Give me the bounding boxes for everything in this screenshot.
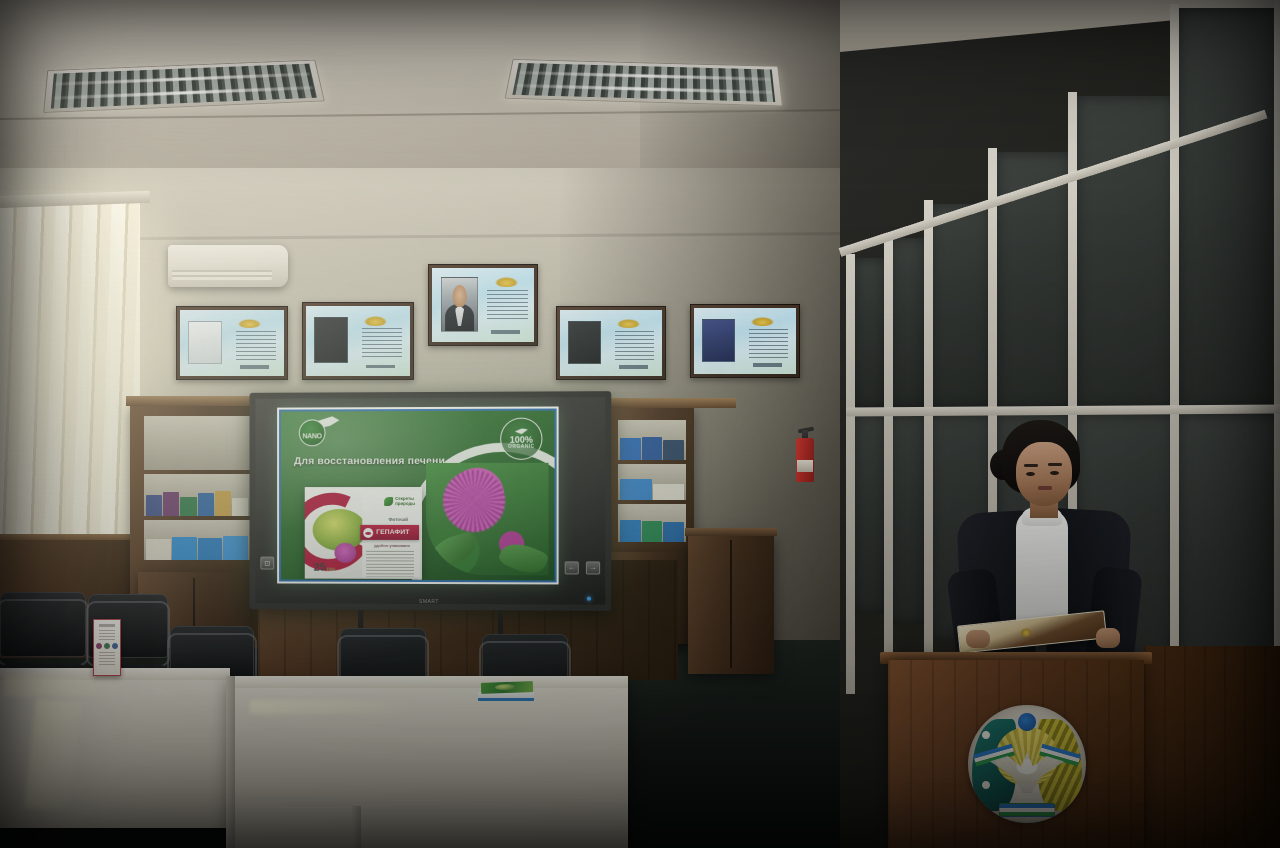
glass-pane [890,414,926,624]
certificate-thumbnail [568,321,601,365]
folder-row [620,518,684,542]
table-tent-card [93,619,121,676]
certificate-text-lines [749,329,788,358]
book [215,491,231,516]
window-mullion [884,234,893,654]
pack-count-number: 25 [314,562,326,574]
certificate-art [694,308,796,374]
table-edge [228,676,628,688]
book-stack [478,683,534,701]
storage-cabinet[interactable] [688,534,774,674]
certificate-signature [753,363,782,366]
certificate-thumbnail [188,321,221,365]
bookshelf-compartment-top [144,416,250,470]
certificate-text-lines [236,331,276,360]
conference-table-left [0,668,230,828]
certificate-frame-2 [302,302,414,380]
folder [172,537,197,560]
folder-row [146,535,248,560]
room-photo: NANO 100% ORGANIC Для восстановления печ… [0,0,1280,848]
eye [1026,472,1035,476]
folder [223,536,248,560]
ac-vent [172,270,272,280]
book [146,495,162,516]
portrait-head [452,285,467,307]
table-leg [226,676,235,848]
tent-card-text [99,630,115,640]
brand-mark: Секреты природы [384,497,415,507]
certificate-signature [619,365,648,368]
hand-left [966,630,990,648]
eyebrow [1048,463,1062,466]
cotton-boll [982,781,990,789]
slide-title: Для восстановления печени [294,455,445,467]
book [663,440,684,460]
certificate-text-lines [615,331,654,360]
conference-table-right [228,676,628,848]
certificate-art [180,310,284,376]
presentation-slide: NANO 100% ORGANIC Для восстановления печ… [279,408,557,582]
speaker-person [930,420,1150,670]
glass-pane [854,258,886,408]
bookcase-cornice [126,396,262,406]
glass-pane [854,414,886,614]
certificate-thumbnail [702,319,735,363]
bookshelf-compartment-mid [144,474,250,516]
bookcase-cornice [600,398,736,408]
light-louver [512,63,775,102]
book [642,437,663,460]
certificate-frame-4 [690,304,800,378]
fire-extinguisher-icon [796,428,814,482]
state-emblem-icon [495,277,517,287]
box-flower-graphic [334,543,356,563]
table-apron [0,680,230,828]
book-row [146,490,248,516]
brand-leaf-icon [384,497,393,506]
window-left [0,196,140,556]
state-emblem-icon [751,317,773,326]
bookshelf-compartment-mid [618,464,686,500]
pack-count-unit: пак. [327,567,337,573]
icon-dot [96,643,102,649]
crescent-star-icon [1018,713,1036,731]
certificate-signature [240,365,269,368]
state-emblem-icon [364,316,387,326]
icon-dot [104,643,110,649]
portrait-text-lines [487,290,528,321]
logo-text: NANO [303,433,322,445]
certificate-signature [366,365,395,369]
eyebrow [1024,464,1038,467]
tent-card-icons [96,643,118,649]
book [653,484,685,500]
certificate-frame-3 [556,306,666,380]
glass-pane [1178,8,1280,408]
bookshelf-compartment-low [618,504,686,542]
table-leg [352,806,361,848]
plaque-seal-icon [1021,628,1032,637]
organic-badge-icon: 100% ORGANIC [500,418,542,460]
product-box: Секреты природы Фиточай ГЕПАФИТ удобно у… [305,487,422,579]
portrait-signature [491,330,520,334]
leaf [427,531,479,570]
whiteboard-next-button[interactable]: → [586,561,600,574]
state-emblem-icon [617,319,639,328]
certificate-art [560,310,662,376]
table-apron [228,688,628,848]
extinguisher-label [797,460,813,472]
uzbekistan-coat-of-arms-icon [968,705,1086,823]
portrait-photo [441,277,478,332]
brand-line-2: природы [395,502,415,507]
certificate-frame-1 [176,306,288,380]
tent-card-title [99,624,115,627]
tent-card-footer [99,652,115,666]
certificate-art [306,306,410,376]
state-emblem-icon [238,319,261,328]
mouth [1038,486,1052,490]
window-mullion [1274,0,1280,720]
book [232,498,248,516]
podium-side-panel [1144,646,1280,848]
air-conditioner [168,245,288,287]
organic-label: ORGANIC [508,444,535,449]
eye [1050,471,1059,475]
logo-circle: NANO [299,419,326,446]
glass-pane [930,204,992,408]
window-mullion [846,254,855,694]
bookshelf-compartment-low [144,520,250,560]
folder [198,538,223,560]
power-led-icon [587,597,591,601]
glass-pane [890,238,926,408]
certificate-text-lines [362,328,402,359]
folder [146,539,171,560]
flag-ribbon-bottom [999,803,1055,817]
nano-logo-icon: NANO [295,417,339,447]
extinguisher-body [796,438,814,482]
box-front-panel: Секреты природы Фиточай ГЕПАФИТ удобно у… [362,491,420,577]
book [620,438,641,460]
bookshelf-compartment-top [618,420,686,460]
folder [620,520,641,542]
portrait-frame [428,264,538,346]
cabinet-top [685,528,777,536]
book [180,497,196,516]
product-category: Фиточай [388,517,408,522]
face [1016,442,1072,506]
thistle-bloom [443,470,505,532]
whiteboard-screen[interactable]: NANO 100% ORGANIC Для восстановления печ… [277,406,559,584]
book-row [620,478,684,500]
book [163,492,179,516]
book [198,493,214,516]
product-subtitle: удобно упаковано [374,543,410,548]
window-mullion [1170,4,1179,704]
product-description-lines [366,551,414,577]
product-name: ГЕПАФИТ [376,529,409,536]
cabinet-door-seam [730,540,732,668]
product-name-bar: ГЕПАФИТ [360,525,419,540]
cotton-boll [982,731,990,739]
pack-count: 25 пак. [314,562,337,574]
folder [663,522,684,542]
whiteboard-menu-button[interactable]: ⊡ [260,557,274,570]
icon-dot [112,643,118,649]
book-top [481,681,533,694]
book [620,479,652,500]
milk-thistle-photo [426,463,549,576]
certificate-thumbnail [314,317,347,363]
product-seal-icon [363,527,373,537]
leaf [497,537,549,575]
interactive-whiteboard[interactable]: NANO 100% ORGANIC Для восстановления печ… [250,391,612,611]
light-louver [51,64,317,109]
whiteboard-prev-button[interactable]: ← [565,561,579,574]
ceiling-light-right [504,59,782,106]
whiteboard-brand-label: SMART [419,599,439,605]
book-row [620,435,684,460]
vertical-blinds[interactable] [0,196,140,556]
leaf-icon [515,428,528,434]
folder [642,521,663,542]
chair-frame [0,599,89,666]
hand-right [1096,628,1120,648]
portrait-art [432,268,534,342]
